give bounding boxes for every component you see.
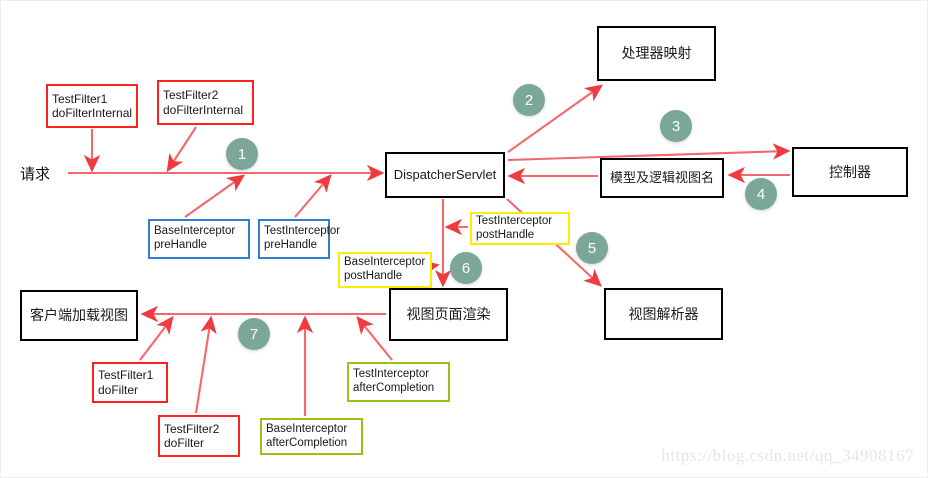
node-label: 视图页面渲染 bbox=[407, 306, 491, 323]
step-badge-4: 4 bbox=[745, 178, 777, 210]
node-view-render[interactable]: 视图页面渲染 bbox=[389, 288, 508, 341]
entry-label: 请求 bbox=[20, 163, 50, 184]
connector-layer bbox=[0, 0, 928, 478]
arrow-testfilter2-dofilter-to-line bbox=[196, 318, 211, 413]
node-test-filter1-dofilter[interactable]: TestFilter1 doFilter bbox=[92, 362, 168, 403]
step-number: 3 bbox=[672, 118, 680, 135]
arrow-testfilter2-to-line bbox=[168, 127, 196, 170]
node-label: BaseInterceptor afterCompletion bbox=[266, 423, 347, 450]
step-badge-1: 1 bbox=[226, 138, 258, 170]
arrow-testinterceptor-aftercompletion-to-line bbox=[358, 318, 392, 360]
node-test-filter1-dofilterinternal[interactable]: TestFilter1 doFilterInternal bbox=[46, 84, 138, 128]
node-label: 视图解析器 bbox=[629, 306, 699, 323]
arrow-testfilter1-dofilter-to-line bbox=[140, 318, 172, 360]
node-label: TestFilter2 doFilterInternal bbox=[163, 88, 243, 116]
node-label: TestInterceptor afterCompletion bbox=[353, 368, 434, 395]
step-number: 2 bbox=[525, 92, 533, 109]
step-number: 4 bbox=[757, 186, 765, 203]
step-number: 1 bbox=[238, 146, 246, 163]
step-number: 7 bbox=[250, 326, 258, 343]
node-label: TestFilter1 doFilter bbox=[98, 368, 153, 396]
step-number: 6 bbox=[462, 260, 470, 277]
watermark-text: https://blog.csdn.net/qq_34908167 bbox=[661, 446, 914, 466]
node-label: TestInterceptor preHandle bbox=[264, 225, 340, 252]
node-test-interceptor-prehandle[interactable]: TestInterceptor preHandle bbox=[258, 219, 330, 259]
node-test-interceptor-aftercompletion[interactable]: TestInterceptor afterCompletion bbox=[347, 362, 450, 402]
node-label: BaseInterceptor postHandle bbox=[344, 256, 425, 283]
node-dispatcher-servlet[interactable]: DispatcherServlet bbox=[385, 152, 505, 198]
node-label: 模型及逻辑视图名 bbox=[610, 170, 714, 185]
step-badge-3: 3 bbox=[660, 110, 692, 142]
step-badge-2: 2 bbox=[513, 84, 545, 116]
step-badge-6: 6 bbox=[450, 252, 482, 284]
node-label: 客户端加载视图 bbox=[30, 307, 128, 324]
diagram-canvas: 请求 TestFilter1 doFilterInternal TestFilt… bbox=[0, 0, 928, 478]
arrow-testinterceptor-prehandle-to-line bbox=[295, 176, 330, 217]
node-test-interceptor-posthandle[interactable]: TestInterceptor postHandle bbox=[470, 212, 570, 245]
step-badge-7: 7 bbox=[238, 318, 270, 350]
node-label: 处理器映射 bbox=[622, 45, 692, 62]
node-base-interceptor-aftercompletion[interactable]: BaseInterceptor afterCompletion bbox=[260, 418, 363, 455]
node-client-loads-view[interactable]: 客户端加载视图 bbox=[20, 290, 138, 341]
node-base-interceptor-prehandle[interactable]: BaseInterceptor preHandle bbox=[148, 219, 250, 259]
node-label: DispatcherServlet bbox=[394, 167, 497, 182]
node-model-and-view-name[interactable]: 模型及逻辑视图名 bbox=[600, 158, 724, 198]
node-label: BaseInterceptor preHandle bbox=[154, 225, 235, 252]
step-badge-5: 5 bbox=[576, 232, 608, 264]
node-label: 控制器 bbox=[829, 164, 871, 181]
node-label: TestInterceptor postHandle bbox=[476, 215, 552, 242]
node-label: TestFilter1 doFilterInternal bbox=[52, 92, 132, 120]
node-test-filter2-dofilter[interactable]: TestFilter2 doFilter bbox=[158, 415, 240, 457]
node-test-filter2-dofilterinternal[interactable]: TestFilter2 doFilterInternal bbox=[157, 80, 254, 125]
node-label: TestFilter2 doFilter bbox=[164, 422, 219, 450]
node-controller[interactable]: 控制器 bbox=[792, 147, 908, 197]
step-number: 5 bbox=[588, 240, 596, 257]
node-handler-mapping[interactable]: 处理器映射 bbox=[597, 26, 716, 81]
node-base-interceptor-posthandle[interactable]: BaseInterceptor postHandle bbox=[338, 252, 432, 288]
arrow-baseinterceptor-prehandle-to-line bbox=[185, 176, 243, 217]
node-view-resolver[interactable]: 视图解析器 bbox=[604, 288, 723, 340]
